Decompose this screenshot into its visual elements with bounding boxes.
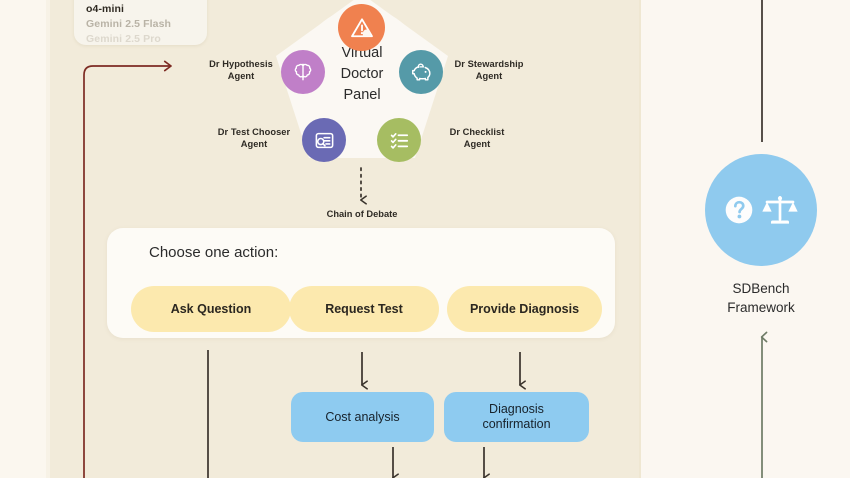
outcome-diagnosis-confirmation-line-1: Diagnosis [482,402,550,417]
model-option-gemini-flash[interactable]: Gemini 2.5 Flash [86,17,207,31]
action-request-test[interactable]: Request Test [289,286,439,332]
agent-label-stewardship-line-2: Agent [434,70,544,82]
choose-action-card: Choose one action: Ask Question Request … [107,228,615,338]
agent-label-hypothesis-line-1: Dr Hypothesis [189,58,293,70]
agent-label-checklist-line-2: Agent [424,138,530,150]
outcome-cost-analysis-label: Cost analysis [325,410,399,425]
model-option-gemini-pro[interactable]: Gemini 2.5 Pro [86,32,207,46]
agent-label-test-chooser: Dr Test Chooser Agent [199,126,309,150]
checklist-icon [387,128,412,153]
warning-triangle-icon [349,15,375,41]
agent-checklist-icon-circle[interactable] [377,118,421,162]
balance-scales-icon [760,190,800,230]
sdbench-label-line-2: Framework [681,298,841,317]
agent-label-checklist-line-1: Dr Checklist [424,126,530,138]
agent-risk-icon-circle[interactable] [338,4,385,51]
agent-label-test-chooser-line-2: Agent [199,138,309,150]
sdbench-label: SDBench Framework [681,279,841,317]
action-provide-diagnosis[interactable]: Provide Diagnosis [447,286,602,332]
agent-label-stewardship: Dr Stewardship Agent [434,58,544,82]
model-option-selected[interactable]: o4-mini [86,2,207,16]
chain-of-debate-label: Chain of Debate [302,209,422,219]
agent-label-hypothesis: Dr Hypothesis Agent [189,58,293,82]
sdbench-label-line-1: SDBench [681,279,841,298]
model-dropdown[interactable]: o4-mini Gemini 2.5 Flash Gemini 2.5 Pro [74,0,207,45]
agent-label-stewardship-line-1: Dr Stewardship [434,58,544,70]
agent-label-hypothesis-line-2: Agent [189,70,293,82]
outcome-cost-analysis[interactable]: Cost analysis [291,392,434,442]
outcome-diagnosis-confirmation-line-2: confirmation [482,417,550,432]
choose-action-heading: Choose one action: [149,244,278,261]
outcome-diagnosis-confirmation[interactable]: Diagnosis confirmation [444,392,589,442]
agent-label-checklist: Dr Checklist Agent [424,126,530,150]
diagram-canvas: o4-mini Gemini 2.5 Flash Gemini 2.5 Pro … [0,0,850,478]
agent-label-test-chooser-line-1: Dr Test Chooser [199,126,309,138]
test-search-icon [312,128,337,153]
sdbench-icon-circle[interactable] [705,154,817,266]
action-ask-question[interactable]: Ask Question [131,286,291,332]
brain-icon [291,60,315,84]
piggy-bank-icon [409,60,434,85]
question-mark-icon [722,193,756,227]
